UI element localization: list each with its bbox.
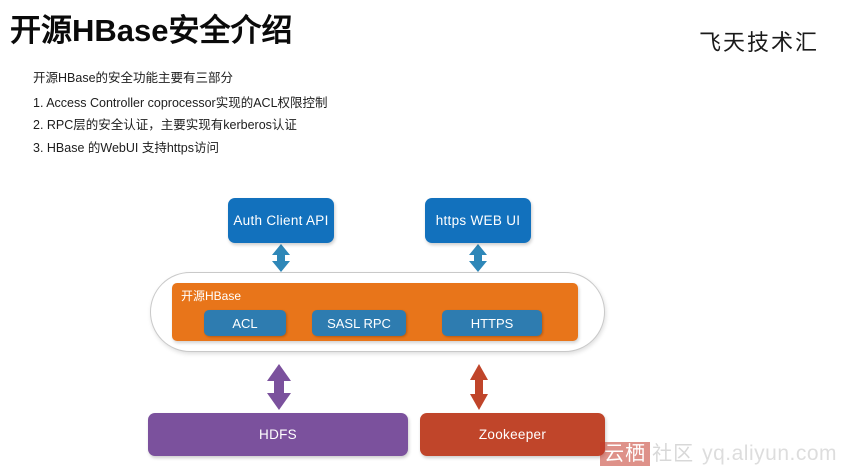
arrow-webui-to-hbase[interactable] — [465, 243, 491, 273]
watermark-rest: 社区 — [652, 443, 694, 465]
body-text-block: 开源HBase的安全功能主要有三部分 1. Access Controller … — [33, 67, 633, 159]
arrow-hbase-to-zookeeper[interactable] — [467, 362, 491, 412]
body-item-1: 1. Access Controller coprocessor实现的ACL权限… — [33, 92, 633, 115]
node-auth-client-api-label: Auth Client API — [233, 213, 328, 228]
page-title: 开源HBase安全介绍 — [10, 12, 293, 49]
node-module-https[interactable]: HTTPS — [442, 310, 542, 336]
node-module-sasl-rpc-label: SASL RPC — [327, 316, 391, 331]
body-lead-line: 开源HBase的安全功能主要有三部分 — [33, 67, 633, 90]
watermark-badge: 云栖 — [600, 442, 650, 466]
brand-mark: 飞天技术汇 — [699, 25, 819, 57]
slide-canvas: 开源HBase安全介绍 飞天技术汇 开源HBase的安全功能主要有三部分 1. … — [0, 0, 849, 474]
node-hdfs-label: HDFS — [259, 427, 297, 442]
arrow-auth-to-hbase[interactable] — [268, 243, 294, 273]
node-module-acl[interactable]: ACL — [204, 310, 286, 336]
arrow-hbase-to-hdfs[interactable] — [263, 362, 295, 412]
node-zookeeper-label: Zookeeper — [479, 427, 546, 442]
body-item-2: 2. RPC层的安全认证，主要实现有kerberos认证 — [33, 114, 633, 137]
node-module-acl-label: ACL — [232, 316, 257, 331]
node-https-web-ui-label: https WEB UI — [436, 213, 521, 228]
node-zookeeper[interactable]: Zookeeper — [420, 413, 605, 456]
node-hdfs[interactable]: HDFS — [148, 413, 408, 456]
node-hbase-band[interactable]: 开源HBase ACL SASL RPC HTTPS — [172, 283, 578, 341]
watermark-url: yq.aliyun.com — [702, 442, 837, 465]
node-auth-client-api[interactable]: Auth Client API — [228, 198, 334, 243]
watermark: 云栖 社区 yq.aliyun.com — [600, 442, 837, 466]
hbase-band-label: 开源HBase — [181, 287, 241, 304]
node-https-web-ui[interactable]: https WEB UI — [425, 198, 531, 243]
node-module-sasl-rpc[interactable]: SASL RPC — [312, 310, 406, 336]
body-item-3: 3. HBase 的WebUI 支持https访问 — [33, 137, 633, 160]
node-module-https-label: HTTPS — [471, 316, 514, 331]
